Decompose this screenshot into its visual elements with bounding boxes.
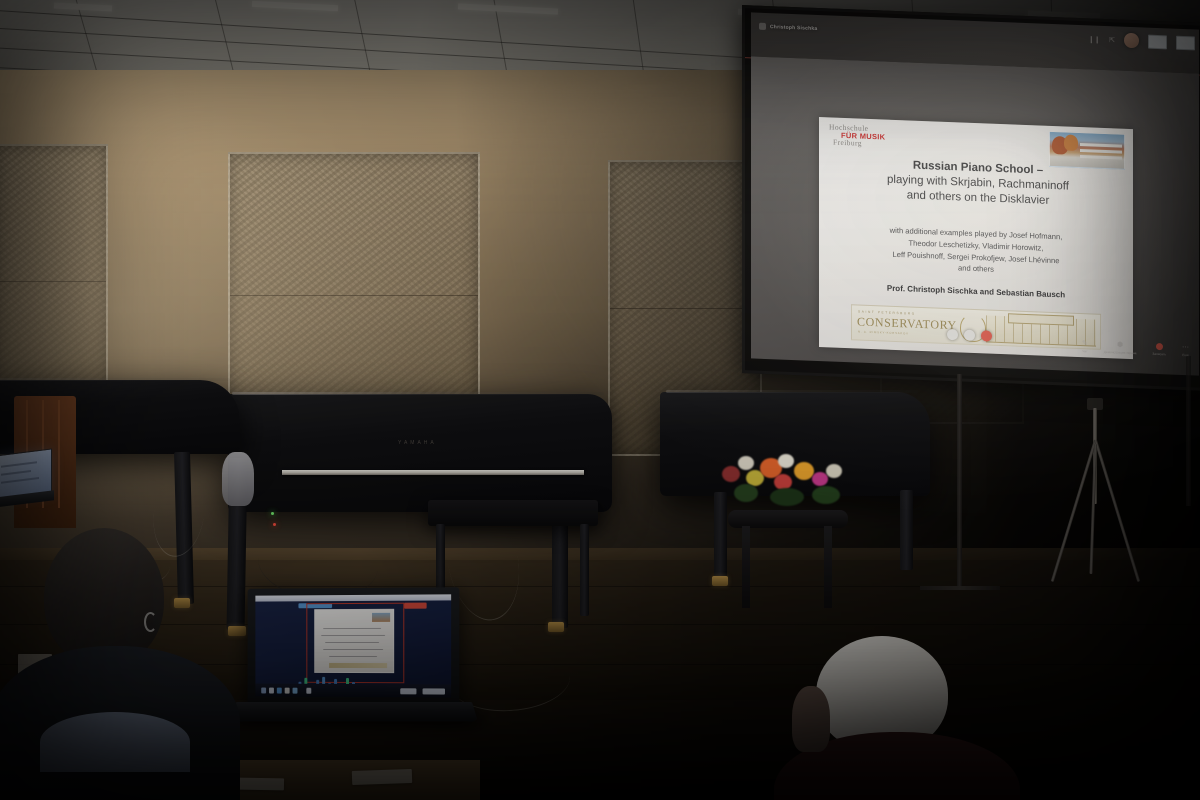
shared-screen-area: Hochschule FÜR MUSIK Freiburg Russian Pi…	[751, 56, 1199, 375]
hochschule-logo: Hochschule FÜR MUSIK Freiburg	[829, 123, 885, 148]
piano-caster	[228, 626, 246, 636]
piano-keybed	[282, 470, 584, 475]
laptop-screen[interactable]	[255, 594, 451, 697]
record-icon	[1156, 343, 1163, 350]
operator-laptop[interactable]	[246, 588, 472, 738]
recording-indicator	[404, 603, 426, 609]
chat-button-label: Чат	[1082, 349, 1087, 353]
slide-footer-logo-preview	[329, 663, 387, 668]
audience-person-left	[18, 528, 228, 800]
fullscreen-icon[interactable]: ⇱	[1109, 36, 1115, 44]
conference-primary-controls[interactable]	[947, 329, 992, 342]
taskbar-icon[interactable]	[277, 688, 282, 694]
share-screen-icon: ⬢	[1117, 341, 1123, 348]
camera-icon	[759, 23, 766, 30]
yamaha-grand-piano	[228, 394, 612, 512]
taskbar-icon[interactable]	[306, 688, 311, 694]
slide-subtitle: with additional examples played by Josef…	[829, 222, 1123, 280]
piano-caster	[548, 622, 564, 632]
taskbar-icon[interactable]	[285, 688, 290, 694]
status-led-red	[273, 523, 276, 526]
record-button[interactable]: Записать	[1152, 343, 1166, 357]
laptop-lid	[248, 587, 460, 707]
shared-slide-preview	[314, 609, 394, 673]
taskbar-icon[interactable]	[269, 688, 274, 694]
taskbar-clock[interactable]	[423, 688, 445, 694]
video-button[interactable]	[964, 330, 975, 341]
chair-slat	[58, 400, 60, 508]
conference-window-titlebar	[255, 594, 451, 601]
flower-stand-leg	[824, 526, 832, 608]
more-icon: ⋯	[1182, 344, 1189, 351]
conservatory-logo-bottom-text: N. A. RIMSKY-KORSAKOV	[858, 330, 909, 336]
sheet-of-paper	[238, 778, 284, 791]
piano-lid-edge	[666, 390, 918, 393]
slide-presenters: Prof. Christoph Sischka and Sebastian Ba…	[829, 281, 1123, 301]
yamaha-brand-mark: YAMAHA	[398, 440, 437, 446]
conservatory-building-illustration	[986, 315, 1096, 346]
piano-lid-edge	[0, 378, 230, 381]
participant-avatar[interactable]	[1124, 33, 1139, 49]
piano-caster	[712, 576, 728, 586]
slide-title: Russian Piano School – playing with Skrj…	[833, 156, 1123, 213]
face-mask-ear-loop	[144, 612, 157, 632]
pause-icon[interactable]: ❙❙	[1088, 35, 1100, 43]
lecture-hall-screenshot: Christoph Sischka ❙❙ ⇱ Hochschule FÜR MU…	[0, 0, 1200, 800]
piano-lid-edge	[232, 392, 604, 395]
flower-bouquet	[716, 444, 866, 516]
slide-photo-thumbnail	[372, 613, 390, 622]
conservatory-logo: SAINT PETERSBURG CONSERVATORY N. A. RIMS…	[851, 304, 1101, 350]
laptop-taskbar[interactable]	[255, 684, 451, 698]
audience-person-right	[790, 636, 1020, 800]
bench-leg	[580, 524, 589, 616]
leave-button[interactable]	[981, 330, 992, 341]
taskbar-tray[interactable]	[400, 688, 416, 694]
cloth-on-piano-leg	[222, 452, 254, 506]
raised-hand	[792, 686, 830, 752]
participant-name: Christoph Sischka	[770, 24, 817, 32]
flower-stand-leg	[742, 526, 750, 608]
record-button-label: Записать	[1152, 352, 1166, 357]
chat-button[interactable]: ✎ Чат	[1082, 340, 1088, 353]
piano-leg	[900, 490, 913, 570]
share-screen-button[interactable]: ⬢ Демонстрация экрана	[1104, 341, 1137, 355]
view-thumbnail[interactable]	[1176, 35, 1195, 50]
sheet-of-paper	[352, 769, 412, 785]
projection-screen-foot	[920, 586, 1000, 590]
projection-screen-stand-right	[1186, 356, 1191, 506]
status-led-green	[271, 512, 274, 515]
shirt-collar	[40, 712, 190, 772]
taskbar-icon[interactable]	[261, 688, 266, 694]
view-thumbnail[interactable]	[1148, 34, 1167, 49]
chat-icon: ✎	[1082, 340, 1088, 347]
projection-screen: Christoph Sischka ❙❙ ⇱ Hochschule FÜR MU…	[742, 5, 1200, 391]
projection-screen-stand	[957, 374, 962, 590]
presentation-slide: Hochschule FÜR MUSIK Freiburg Russian Pi…	[819, 117, 1133, 359]
mute-button[interactable]	[947, 329, 958, 340]
laptop-keyboard-base[interactable]	[230, 702, 478, 721]
taskbar-icon[interactable]	[293, 688, 298, 694]
